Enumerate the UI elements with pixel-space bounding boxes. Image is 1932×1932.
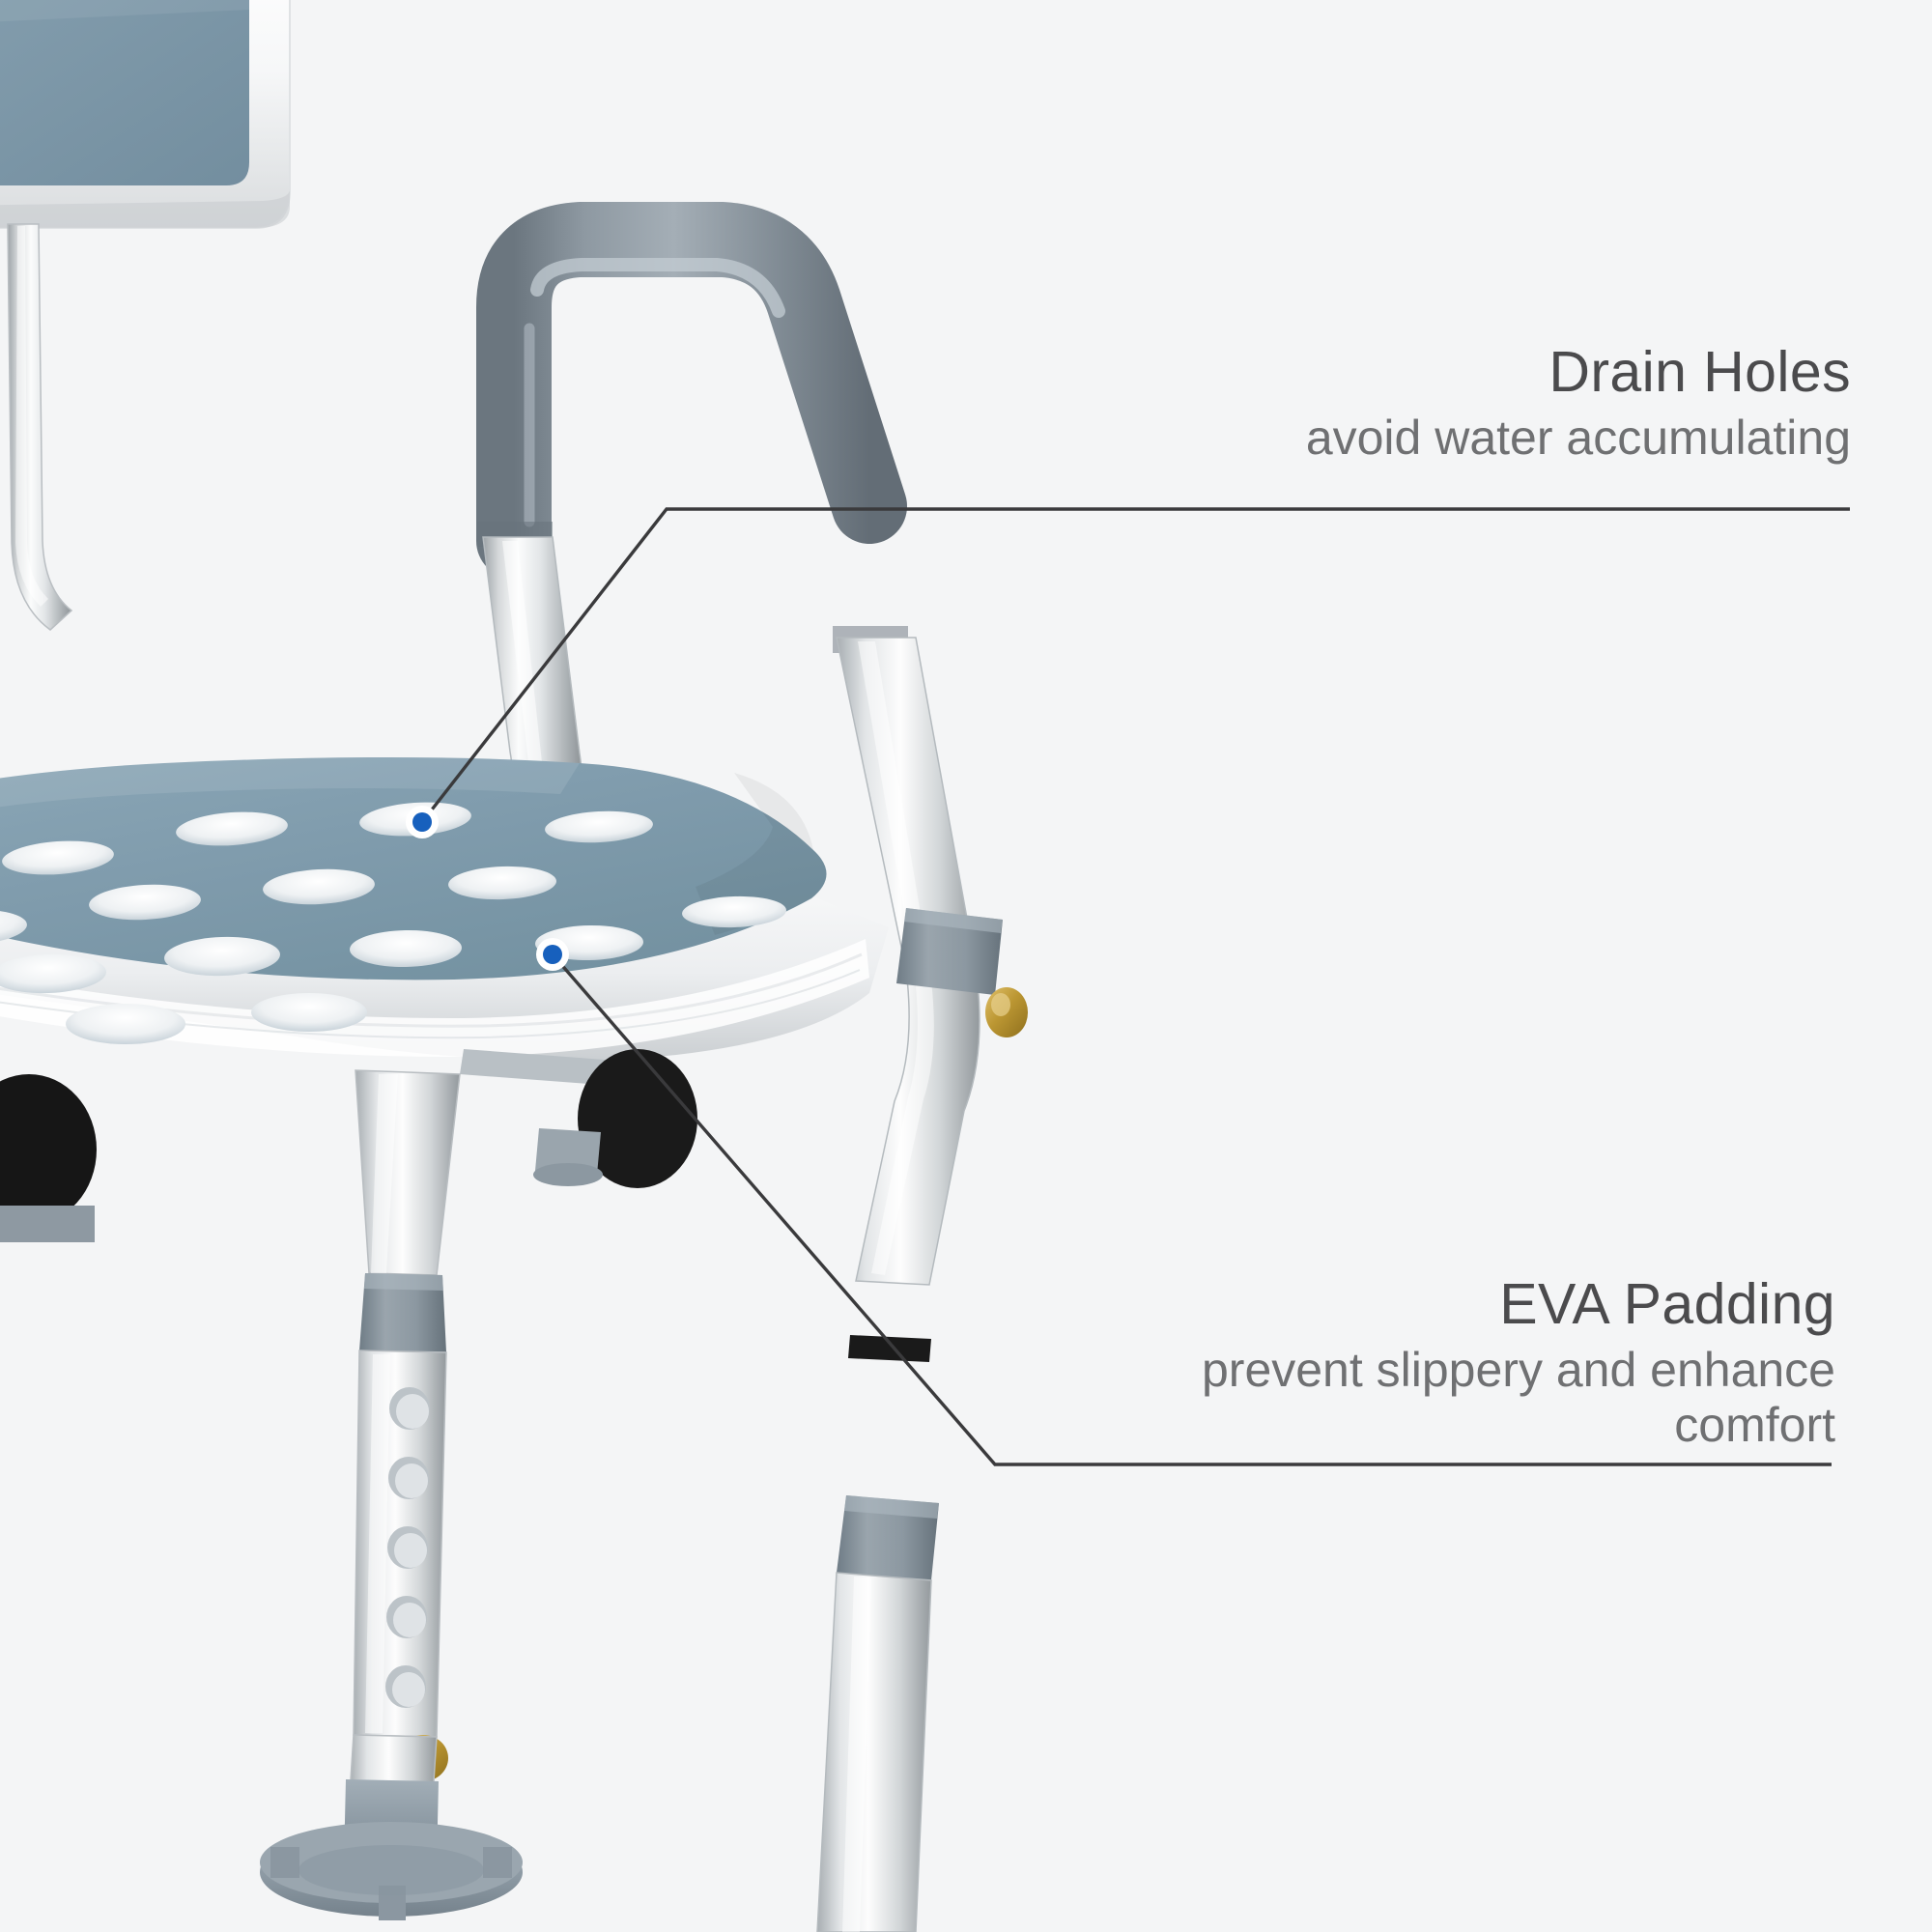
callout-subtitle-eva-padding: prevent slippery and enhance comfort — [1121, 1343, 1835, 1453]
marker-dot-drain-holes[interactable] — [406, 806, 439, 838]
callout-drain-holes: Drain Holes avoid water accumulating — [981, 343, 1851, 466]
marker-dot-eva-padding[interactable] — [536, 938, 569, 971]
rear-crossbar — [460, 1049, 697, 1188]
infographic-canvas: Drain Holes avoid water accumulating EVA… — [0, 0, 1932, 1932]
callout-title-drain-holes: Drain Holes — [981, 343, 1851, 401]
callout-subtitle-drain-holes: avoid water accumulating — [981, 411, 1851, 466]
callout-title-eva-padding: EVA Padding — [966, 1275, 1835, 1333]
adjustable-leg — [260, 1070, 523, 1920]
front-left-leg — [0, 1074, 97, 1242]
backrest-post — [8, 224, 71, 630]
backrest — [0, 0, 290, 228]
suction-cup-foot — [260, 1779, 523, 1920]
callout-eva-padding: EVA Padding prevent slippery and enhance… — [966, 1275, 1835, 1453]
product-illustration — [0, 0, 1932, 1932]
